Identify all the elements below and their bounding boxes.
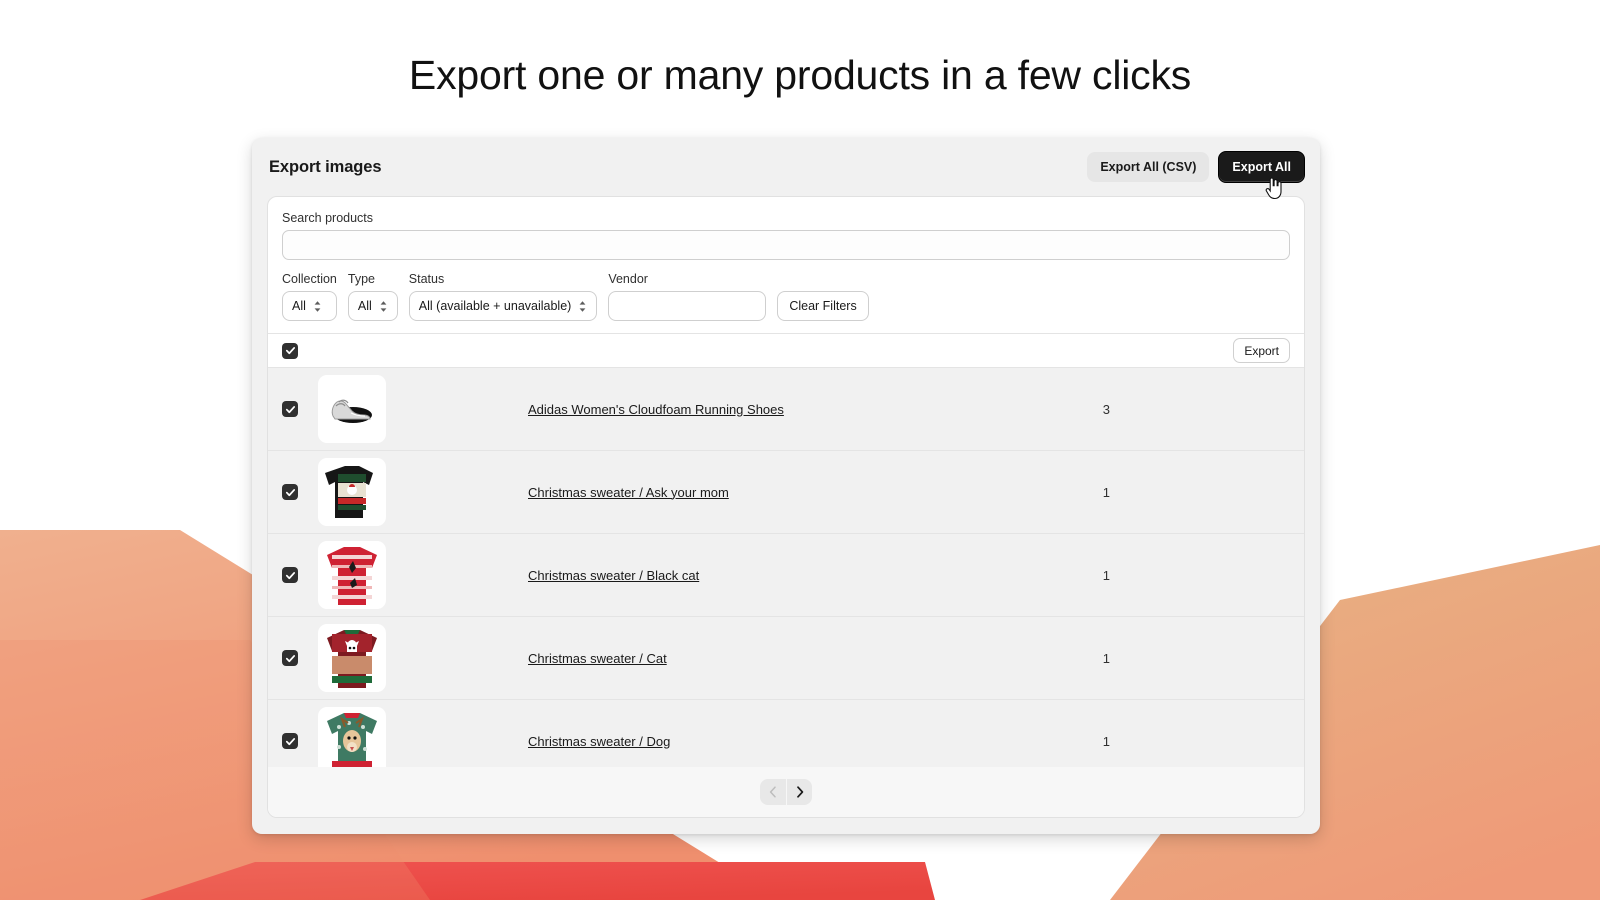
collection-select-value: All bbox=[292, 299, 306, 313]
pagination-prev-button[interactable] bbox=[760, 779, 786, 805]
check-icon bbox=[285, 736, 296, 747]
status-select-value: All (available + unavailable) bbox=[419, 299, 572, 313]
row-checkbox[interactable] bbox=[282, 650, 298, 666]
export-selected-button[interactable]: Export bbox=[1233, 338, 1290, 363]
product-thumbnail bbox=[318, 624, 386, 692]
pagination-controls bbox=[760, 779, 812, 805]
product-count: 1 bbox=[1103, 734, 1110, 749]
product-link[interactable]: Christmas sweater / Ask your mom bbox=[528, 485, 729, 500]
export-all-csv-button[interactable]: Export All (CSV) bbox=[1087, 152, 1209, 183]
type-label: Type bbox=[348, 272, 398, 286]
check-icon bbox=[285, 653, 296, 664]
check-icon bbox=[285, 345, 296, 356]
chevron-updown-icon bbox=[313, 300, 322, 313]
pagination-bar bbox=[268, 767, 1304, 817]
product-rows: Adidas Women's Cloudfoam Running Shoes 3 bbox=[268, 368, 1304, 767]
status-label: Status bbox=[409, 272, 598, 286]
chevron-right-icon bbox=[796, 786, 804, 798]
table-row[interactable]: Christmas sweater / Black cat 1 bbox=[268, 534, 1304, 617]
type-filter: Type All bbox=[348, 272, 398, 321]
product-link[interactable]: Adidas Women's Cloudfoam Running Shoes bbox=[528, 402, 784, 417]
product-link[interactable]: Christmas sweater / Cat bbox=[528, 651, 667, 666]
product-count: 1 bbox=[1103, 568, 1110, 583]
vendor-filter: Vendor bbox=[608, 272, 766, 321]
select-all-checkbox[interactable] bbox=[282, 343, 298, 359]
status-filter: Status All (available + unavailable) bbox=[409, 272, 598, 321]
check-icon bbox=[285, 487, 296, 498]
product-thumbnail bbox=[318, 458, 386, 526]
collection-label: Collection bbox=[282, 272, 337, 286]
product-count: 3 bbox=[1103, 402, 1110, 417]
check-icon bbox=[285, 570, 296, 581]
table-row[interactable]: Christmas sweater / Cat 1 bbox=[268, 617, 1304, 700]
filter-row: Collection All Type All bbox=[282, 272, 1290, 321]
product-thumbnail bbox=[318, 707, 386, 767]
export-images-card: Export images Export All (CSV) Export Al… bbox=[252, 138, 1320, 834]
product-link[interactable]: Christmas sweater / Black cat bbox=[528, 568, 699, 583]
page-title: Export one or many products in a few cli… bbox=[0, 52, 1600, 99]
table-row[interactable]: Christmas sweater / Ask your mom 1 bbox=[268, 451, 1304, 534]
search-input[interactable] bbox=[282, 230, 1290, 260]
header-actions: Export All (CSV) Export All bbox=[1087, 151, 1305, 184]
chevron-left-icon bbox=[769, 786, 777, 798]
check-icon bbox=[285, 404, 296, 415]
hand-pointer-icon bbox=[1263, 176, 1283, 200]
vendor-label: Vendor bbox=[608, 272, 766, 286]
card-title: Export images bbox=[269, 158, 381, 177]
product-thumbnail bbox=[318, 375, 386, 443]
row-checkbox[interactable] bbox=[282, 484, 298, 500]
collection-filter: Collection All bbox=[282, 272, 337, 321]
products-panel: Search products Collection All bbox=[267, 196, 1305, 818]
card-header: Export images Export All (CSV) Export Al… bbox=[252, 138, 1320, 196]
product-thumbnail bbox=[318, 541, 386, 609]
product-link[interactable]: Christmas sweater / Dog bbox=[528, 734, 670, 749]
table-row[interactable]: Adidas Women's Cloudfoam Running Shoes 3 bbox=[268, 368, 1304, 451]
search-products-label: Search products bbox=[282, 211, 1290, 225]
clear-filters-button[interactable]: Clear Filters bbox=[777, 291, 868, 321]
row-checkbox[interactable] bbox=[282, 733, 298, 749]
status-select[interactable]: All (available + unavailable) bbox=[409, 291, 598, 321]
chevron-updown-icon bbox=[379, 300, 388, 313]
chevron-updown-icon bbox=[578, 300, 587, 313]
product-count: 1 bbox=[1103, 485, 1110, 500]
collection-select[interactable]: All bbox=[282, 291, 337, 321]
pagination-next-button[interactable] bbox=[786, 779, 812, 805]
list-header: Export bbox=[268, 333, 1304, 368]
export-all-button[interactable]: Export All bbox=[1218, 151, 1305, 184]
filters-section: Search products Collection All bbox=[268, 197, 1304, 333]
type-select-value: All bbox=[358, 299, 372, 313]
vendor-input[interactable] bbox=[608, 291, 766, 321]
table-row[interactable]: Christmas sweater / Dog 1 bbox=[268, 700, 1304, 767]
product-count: 1 bbox=[1103, 651, 1110, 666]
row-checkbox[interactable] bbox=[282, 401, 298, 417]
type-select[interactable]: All bbox=[348, 291, 398, 321]
row-checkbox[interactable] bbox=[282, 567, 298, 583]
